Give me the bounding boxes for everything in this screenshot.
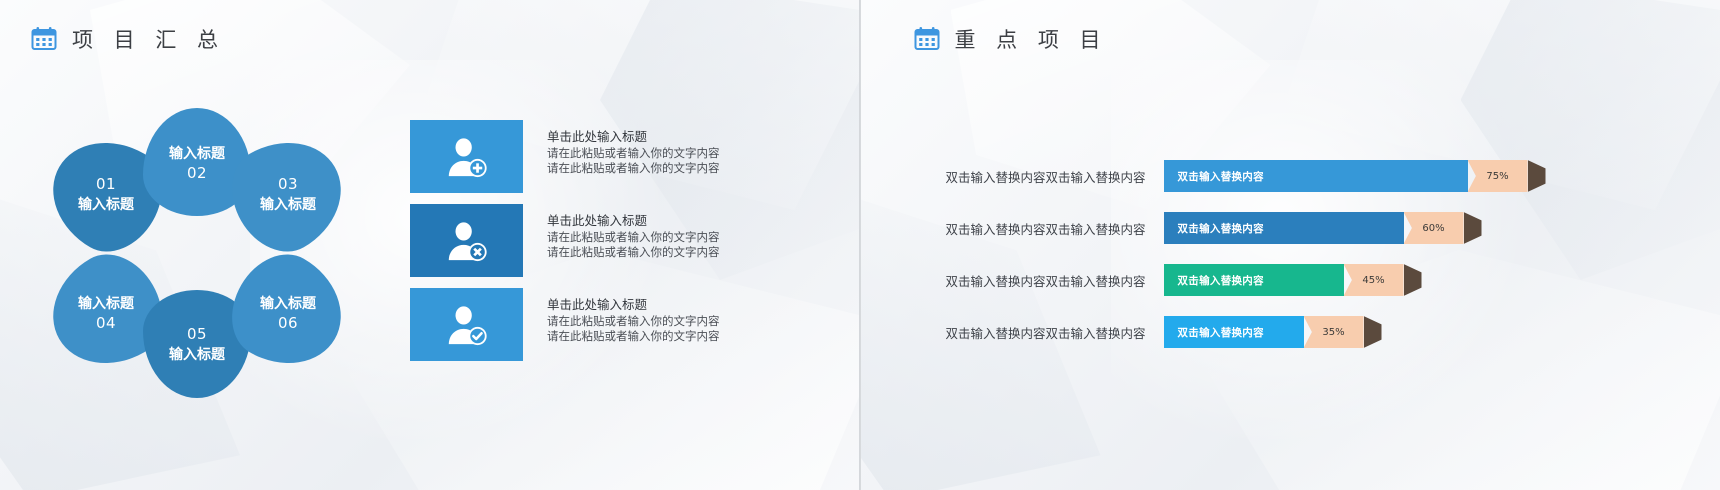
bar-track: 双击输入替换内容 45% bbox=[1164, 254, 1701, 306]
feature-body-line-1: 请在此粘贴或者输入你的文字内容 bbox=[547, 314, 720, 329]
slide-key-projects: 重 点 项 目 双击输入替换内容双击输入替换内容 双击输入替换内容 75% bbox=[860, 0, 1720, 490]
pencil-bar-text: 双击输入替换内容 bbox=[1178, 325, 1264, 340]
pencil-tip bbox=[1364, 316, 1382, 348]
feature-body-line-2: 请在此粘贴或者输入你的文字内容 bbox=[547, 245, 720, 260]
pencil-bar[interactable]: 双击输入替换内容 75% bbox=[1164, 160, 1546, 192]
page-title: 重 点 项 目 bbox=[955, 24, 1108, 54]
slide-divider bbox=[859, 0, 860, 490]
bar-label: 双击输入替换内容双击输入替换内容 bbox=[881, 323, 1164, 342]
pencil-body: 双击输入替换内容 bbox=[1164, 264, 1344, 296]
feature-text: 单击此处输入标题 请在此粘贴或者输入你的文字内容 请在此粘贴或者输入你的文字内容 bbox=[523, 204, 720, 260]
feature-text: 单击此处输入标题 请在此粘贴或者输入你的文字内容 请在此粘贴或者输入你的文字内容 bbox=[523, 288, 720, 344]
feature-row[interactable]: 单击此处输入标题 请在此粘贴或者输入你的文字内容 请在此粘贴或者输入你的文字内容 bbox=[410, 288, 780, 361]
bar-row: 双击输入替换内容双击输入替换内容 双击输入替换内容 35% bbox=[881, 306, 1701, 358]
user-add-icon bbox=[444, 134, 490, 180]
pencil-wood: 75% bbox=[1468, 160, 1528, 192]
pencil-bar[interactable]: 双击输入替换内容 35% bbox=[1164, 316, 1382, 348]
bar-track: 双击输入替换内容 60% bbox=[1164, 202, 1701, 254]
pencil-bar-text: 双击输入替换内容 bbox=[1178, 221, 1264, 236]
feature-body-line-1: 请在此粘贴或者输入你的文字内容 bbox=[547, 146, 720, 161]
user-check-icon bbox=[444, 302, 490, 348]
pencil-bar-chart: 双击输入替换内容双击输入替换内容 双击输入替换内容 75% 双击输入替换内容双击… bbox=[881, 150, 1701, 358]
bar-row: 双击输入替换内容双击输入替换内容 双击输入替换内容 45% bbox=[881, 254, 1701, 306]
slide-deck: 项 目 汇 总 01 输入标题 输入标题 02 bbox=[0, 0, 1720, 490]
bar-label: 双击输入替换内容双击输入替换内容 bbox=[881, 219, 1164, 238]
calendar-icon bbox=[913, 25, 941, 53]
bar-label: 双击输入替换内容双击输入替换内容 bbox=[881, 167, 1164, 186]
bar-track: 双击输入替换内容 35% bbox=[1164, 306, 1701, 358]
pencil-tip bbox=[1404, 264, 1422, 296]
user-remove-icon bbox=[444, 218, 490, 264]
bar-label: 双击输入替换内容双击输入替换内容 bbox=[881, 271, 1164, 290]
pencil-bar[interactable]: 双击输入替换内容 45% bbox=[1164, 264, 1422, 296]
pencil-wood: 35% bbox=[1304, 316, 1364, 348]
pencil-bar-text: 双击输入替换内容 bbox=[1178, 169, 1264, 184]
feature-row[interactable]: 单击此处输入标题 请在此粘贴或者输入你的文字内容 请在此粘贴或者输入你的文字内容 bbox=[410, 204, 780, 277]
pencil-percent: 75% bbox=[1486, 171, 1508, 182]
feature-body-line-1: 请在此粘贴或者输入你的文字内容 bbox=[547, 230, 720, 245]
pencil-tip bbox=[1464, 212, 1482, 244]
pencil-tip bbox=[1528, 160, 1546, 192]
pencil-percent: 60% bbox=[1422, 223, 1444, 234]
feature-icon-tile[interactable] bbox=[410, 120, 523, 193]
slide-header-left: 项 目 汇 总 bbox=[30, 24, 225, 54]
bar-track: 双击输入替换内容 75% bbox=[1164, 150, 1701, 202]
slide-header-right: 重 点 项 目 bbox=[913, 24, 1108, 54]
feature-title: 单击此处输入标题 bbox=[547, 213, 720, 230]
feature-icon-tile[interactable] bbox=[410, 288, 523, 361]
pencil-wood: 45% bbox=[1344, 264, 1404, 296]
slide-project-summary: 项 目 汇 总 01 输入标题 输入标题 02 bbox=[0, 0, 860, 490]
pencil-body: 双击输入替换内容 bbox=[1164, 212, 1404, 244]
feature-title: 单击此处输入标题 bbox=[547, 129, 720, 146]
feature-list: 单击此处输入标题 请在此粘贴或者输入你的文字内容 请在此粘贴或者输入你的文字内容 bbox=[410, 120, 780, 372]
pencil-percent: 45% bbox=[1362, 275, 1384, 286]
feature-icon-tile[interactable] bbox=[410, 204, 523, 277]
calendar-icon bbox=[30, 25, 58, 53]
feature-body-line-2: 请在此粘贴或者输入你的文字内容 bbox=[547, 161, 720, 176]
pencil-body: 双击输入替换内容 bbox=[1164, 316, 1304, 348]
petal-diagram: 01 输入标题 输入标题 02 03 输入标题 bbox=[52, 108, 342, 398]
pencil-percent: 35% bbox=[1322, 327, 1344, 338]
pencil-body: 双击输入替换内容 bbox=[1164, 160, 1468, 192]
pencil-wood: 60% bbox=[1404, 212, 1464, 244]
bar-row: 双击输入替换内容双击输入替换内容 双击输入替换内容 75% bbox=[881, 150, 1701, 202]
bar-row: 双击输入替换内容双击输入替换内容 双击输入替换内容 60% bbox=[881, 202, 1701, 254]
feature-body-line-2: 请在此粘贴或者输入你的文字内容 bbox=[547, 329, 720, 344]
pencil-bar-text: 双击输入替换内容 bbox=[1178, 273, 1264, 288]
pencil-bar[interactable]: 双击输入替换内容 60% bbox=[1164, 212, 1482, 244]
page-title: 项 目 汇 总 bbox=[72, 24, 225, 54]
feature-title: 单击此处输入标题 bbox=[547, 297, 720, 314]
feature-text: 单击此处输入标题 请在此粘贴或者输入你的文字内容 请在此粘贴或者输入你的文字内容 bbox=[523, 120, 720, 176]
feature-row[interactable]: 单击此处输入标题 请在此粘贴或者输入你的文字内容 请在此粘贴或者输入你的文字内容 bbox=[410, 120, 780, 193]
